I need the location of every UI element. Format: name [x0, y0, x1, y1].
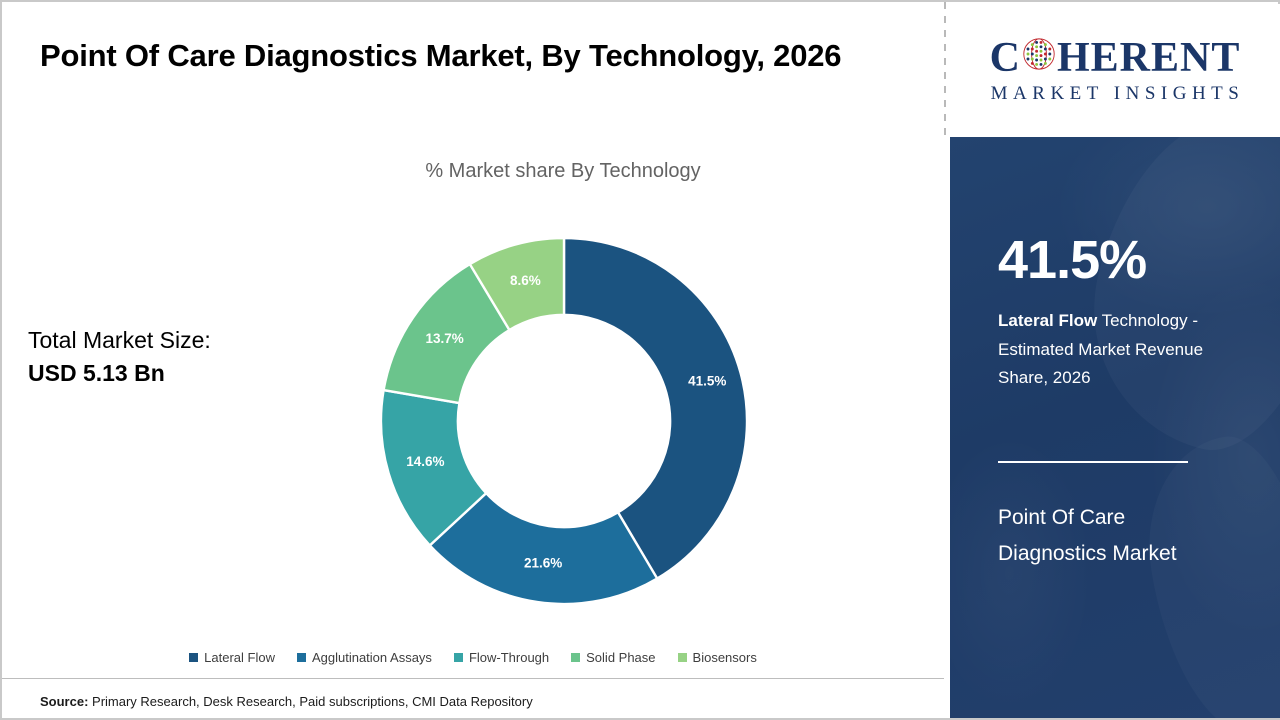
- highlight-divider: [998, 461, 1188, 463]
- donut-slices: [381, 238, 747, 604]
- donut-slice-label: 21.6%: [524, 556, 562, 571]
- donut-slice-label: 41.5%: [688, 373, 726, 388]
- chart-pane: Point Of Care Diagnostics Market, By Tec…: [2, 2, 944, 718]
- total-market-size: Total Market Size: USD 5.13 Bn: [28, 324, 328, 389]
- chart-subtitle: % Market share By Technology: [258, 160, 868, 183]
- pane-divider: [944, 2, 946, 139]
- footer-divider: [2, 678, 944, 679]
- legend-label: Solid Phase: [586, 650, 655, 665]
- legend-swatch-icon: [297, 653, 306, 662]
- donut-slice-label: 14.6%: [406, 454, 444, 469]
- infographic-page: Point Of Care Diagnostics Market, By Tec…: [0, 0, 1280, 720]
- source-text: Primary Research, Desk Research, Paid su…: [88, 694, 532, 709]
- logo: C: [950, 4, 1280, 137]
- legend-swatch-icon: [571, 653, 580, 662]
- brand-pane: C: [950, 2, 1280, 718]
- legend-label: Agglutination Assays: [312, 650, 432, 665]
- source-label: Source:: [40, 694, 88, 709]
- legend-item[interactable]: Biosensors: [678, 650, 757, 665]
- donut-chart-svg: 41.5%21.6%14.6%13.7%8.6%: [380, 228, 748, 614]
- total-market-value: USD 5.13 Bn: [28, 357, 328, 390]
- legend-item[interactable]: Lateral Flow: [189, 650, 275, 665]
- legend-label: Flow-Through: [469, 650, 549, 665]
- highlight-market-name: Point Of Care Diagnostics Market: [998, 500, 1228, 572]
- source-line: Source: Primary Research, Desk Research,…: [40, 694, 533, 709]
- total-market-label: Total Market Size:: [28, 327, 211, 353]
- highlight-description: Lateral Flow Technology - Estimated Mark…: [998, 307, 1226, 393]
- logo-tagline: MARKET INSIGHTS: [986, 83, 1245, 105]
- legend-swatch-icon: [454, 653, 463, 662]
- logo-wordmark: C: [990, 37, 1241, 79]
- logo-name-part2: HERENT: [1057, 37, 1240, 79]
- page-title: Point Of Care Diagnostics Market, By Tec…: [40, 34, 920, 79]
- donut-slice-label: 13.7%: [426, 331, 464, 346]
- donut-chart: 41.5%21.6%14.6%13.7%8.6%: [380, 228, 748, 614]
- chart-legend: Lateral FlowAgglutination AssaysFlow-Thr…: [2, 650, 944, 665]
- legend-label: Lateral Flow: [204, 650, 275, 665]
- dotted-globe-icon: [1022, 37, 1056, 79]
- logo-name-part1: C: [990, 37, 1021, 79]
- highlight-value: 41.5%: [998, 233, 1146, 287]
- legend-item[interactable]: Agglutination Assays: [297, 650, 432, 665]
- legend-item[interactable]: Flow-Through: [454, 650, 549, 665]
- highlight-description-bold: Lateral Flow: [998, 311, 1097, 330]
- legend-swatch-icon: [678, 653, 687, 662]
- donut-slice-label: 8.6%: [510, 273, 541, 288]
- legend-item[interactable]: Solid Phase: [571, 650, 655, 665]
- highlight-panel: 41.5% Lateral Flow Technology - Estimate…: [950, 137, 1280, 718]
- legend-label: Biosensors: [693, 650, 757, 665]
- legend-swatch-icon: [189, 653, 198, 662]
